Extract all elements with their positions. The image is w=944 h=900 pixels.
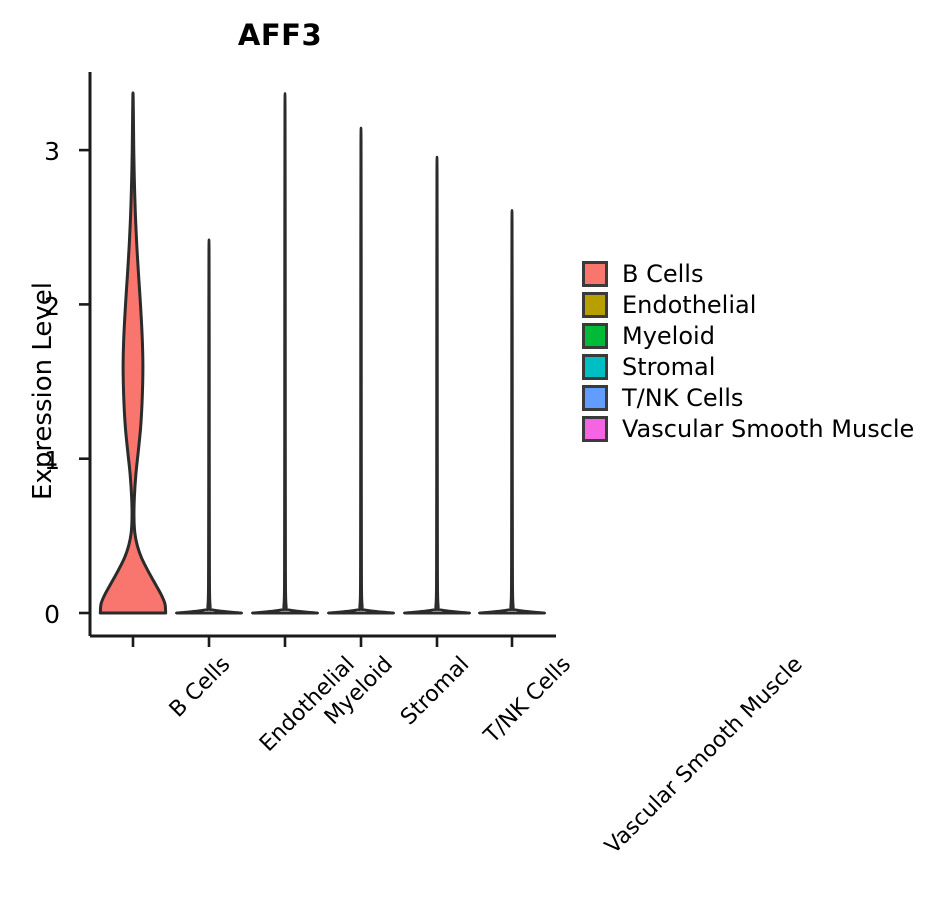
violin-endothelial	[176, 240, 241, 613]
violin-myeloid	[252, 93, 317, 613]
legend-label: Endothelial	[622, 293, 756, 317]
legend: B CellsEndothelialMyeloidStromalT/NK Cel…	[582, 258, 914, 444]
legend-item-t-nk-cells[interactable]: T/NK Cells	[582, 382, 914, 413]
legend-item-vascular-smooth-muscle[interactable]: Vascular Smooth Muscle	[582, 413, 914, 444]
axis-spines	[90, 72, 556, 636]
legend-label: B Cells	[622, 262, 703, 286]
legend-swatch	[582, 323, 608, 349]
violin-t-nk-cells	[404, 157, 469, 613]
violin-stromal	[328, 128, 393, 613]
plot-area	[0, 0, 944, 900]
legend-label: T/NK Cells	[622, 386, 743, 410]
legend-swatch	[582, 292, 608, 318]
legend-swatch	[582, 385, 608, 411]
legend-item-b-cells[interactable]: B Cells	[582, 258, 914, 289]
legend-item-myeloid[interactable]: Myeloid	[582, 320, 914, 351]
violin-b-cells	[100, 93, 165, 613]
legend-swatch	[582, 354, 608, 380]
legend-swatch	[582, 261, 608, 287]
violin-plot-figure: AFF3 Expression Level 0 1 2 3 B CellsEnd…	[0, 0, 944, 900]
legend-label: Vascular Smooth Muscle	[622, 417, 914, 441]
legend-swatch	[582, 416, 608, 442]
legend-label: Myeloid	[622, 324, 715, 348]
legend-item-endothelial[interactable]: Endothelial	[582, 289, 914, 320]
legend-label: Stromal	[622, 355, 715, 379]
legend-item-stromal[interactable]: Stromal	[582, 351, 914, 382]
violins-group	[100, 93, 544, 613]
violin-vascular-smooth-muscle	[479, 210, 544, 613]
